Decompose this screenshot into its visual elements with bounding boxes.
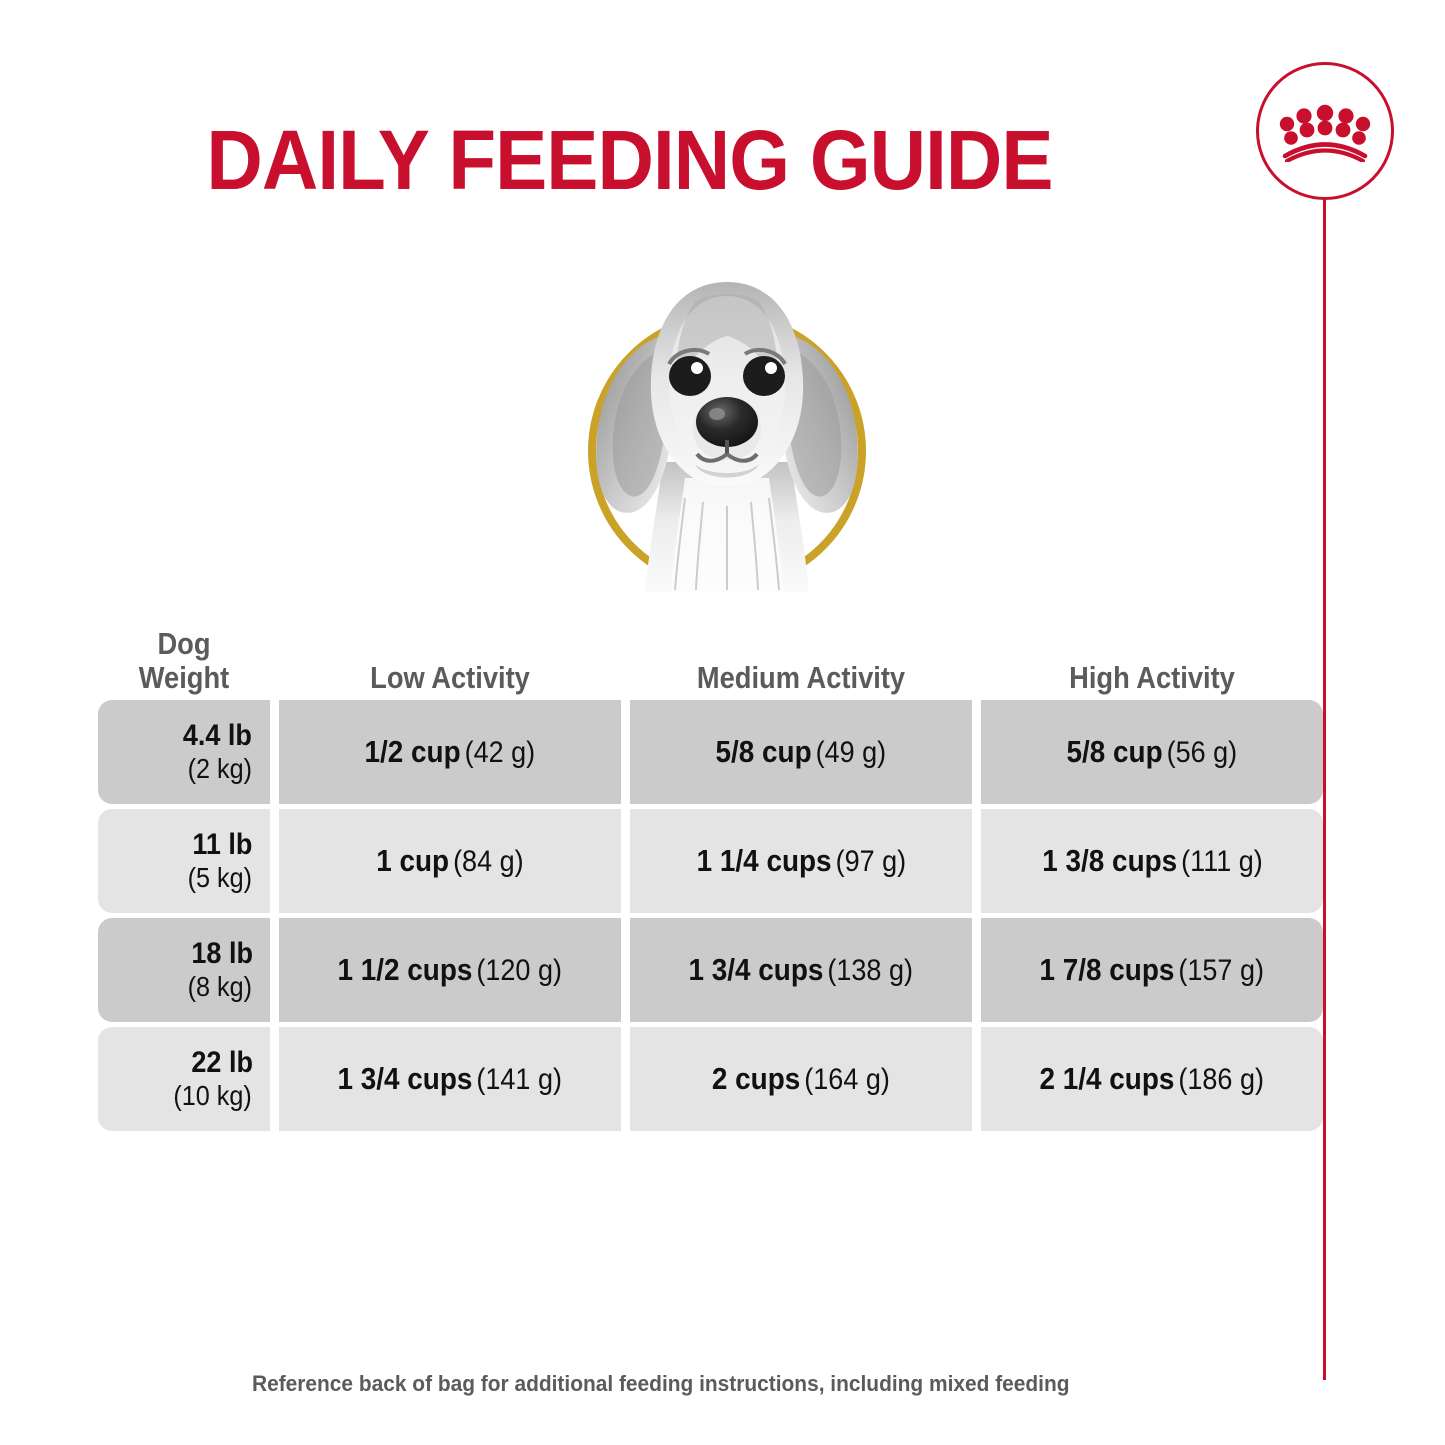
cups-value: 1 cup <box>376 843 449 878</box>
column-gap <box>621 1027 630 1131</box>
table-row: 11 lb (5 kg) 1 cup (84 g) 1 1/4 cups (97… <box>98 809 1296 913</box>
weight-kg: (10 kg) <box>173 1080 251 1112</box>
cell-low-activity: 1/2 cup (42 g) <box>279 700 621 804</box>
footer-note: Reference back of bag for additional fee… <box>36 1371 1409 1397</box>
cups-value: 1/2 cup <box>365 734 461 769</box>
cell-dog-weight: 4.4 lb (2 kg) <box>98 700 270 804</box>
cups-value: 2 cups <box>712 1061 800 1096</box>
column-header-medium-activity: Medium Activity <box>651 661 952 700</box>
cell-low-activity: 1 cup (84 g) <box>279 809 621 913</box>
cell-high-activity: 2 1/4 cups (186 g) <box>981 1027 1323 1131</box>
table-header-row: Dog Weight Low Activity Medium Activity … <box>98 588 1296 700</box>
feeding-table: Dog Weight Low Activity Medium Activity … <box>98 588 1296 1136</box>
grams-value: (164 g) <box>804 1063 890 1096</box>
daily-feeding-guide-page: DAILY FEEDING GUIDE <box>0 0 1445 1445</box>
weight-kg: (2 kg) <box>188 753 252 785</box>
grams-value: (138 g) <box>828 954 914 987</box>
cell-dog-weight: 11 lb (5 kg) <box>98 809 270 913</box>
cell-high-activity: 1 3/8 cups (111 g) <box>981 809 1323 913</box>
cups-value: 1 1/2 cups <box>338 952 473 987</box>
grams-value: (97 g) <box>835 845 906 878</box>
column-gap <box>270 918 279 1022</box>
grams-value: (111 g) <box>1181 845 1263 878</box>
cups-value: 1 7/8 cups <box>1040 952 1175 987</box>
column-gap <box>270 1027 279 1131</box>
cups-value: 1 3/4 cups <box>689 952 824 987</box>
column-gap <box>972 700 981 804</box>
cups-value: 1 1/4 cups <box>696 843 831 878</box>
grams-value: (186 g) <box>1179 1063 1265 1096</box>
cell-high-activity: 5/8 cup (56 g) <box>981 700 1323 804</box>
column-gap <box>270 700 279 804</box>
column-gap <box>972 809 981 913</box>
dachshund-dog-icon <box>545 240 909 604</box>
weight-lb: 4.4 lb <box>183 719 252 753</box>
column-header-low-activity: Low Activity <box>300 661 601 700</box>
grams-value: (157 g) <box>1179 954 1265 987</box>
column-gap <box>621 700 630 804</box>
grams-value: (141 g) <box>477 1063 563 1096</box>
column-header-high-activity: High Activity <box>1002 661 1303 700</box>
table-row: 4.4 lb (2 kg) 1/2 cup (42 g) 5/8 cup (49… <box>98 700 1296 804</box>
cups-value: 2 1/4 cups <box>1040 1061 1175 1096</box>
weight-lb: 11 lb <box>193 828 253 862</box>
weight-lb: 18 lb <box>191 937 253 971</box>
cell-dog-weight: 22 lb (10 kg) <box>98 1027 270 1131</box>
cell-dog-weight: 18 lb (8 kg) <box>98 918 270 1022</box>
cell-medium-activity: 1 3/4 cups (138 g) <box>630 918 972 1022</box>
column-gap <box>270 809 279 913</box>
logo-stem-line <box>1323 198 1326 1380</box>
cups-value: 1 3/4 cups <box>338 1061 473 1096</box>
cell-low-activity: 1 1/2 cups (120 g) <box>279 918 621 1022</box>
cell-low-activity: 1 3/4 cups (141 g) <box>279 1027 621 1131</box>
cups-value: 1 3/8 cups <box>1042 843 1177 878</box>
cell-high-activity: 1 7/8 cups (157 g) <box>981 918 1323 1022</box>
grams-value: (120 g) <box>477 954 563 987</box>
column-gap <box>621 918 630 1022</box>
column-gap <box>621 809 630 913</box>
dog-medallion <box>588 312 866 590</box>
cell-medium-activity: 5/8 cup (49 g) <box>630 700 972 804</box>
page-title: DAILY FEEDING GUIDE <box>51 118 1395 202</box>
cups-value: 5/8 cup <box>716 734 812 769</box>
weight-kg: (5 kg) <box>188 862 252 894</box>
grams-value: (42 g) <box>465 736 536 769</box>
grams-value: (84 g) <box>453 845 524 878</box>
table-row: 22 lb (10 kg) 1 3/4 cups (141 g) 2 cups … <box>98 1027 1296 1131</box>
weight-lb: 22 lb <box>191 1046 253 1080</box>
column-gap <box>972 918 981 1022</box>
cups-value: 5/8 cup <box>1067 734 1163 769</box>
cell-medium-activity: 2 cups (164 g) <box>630 1027 972 1131</box>
grams-value: (56 g) <box>1167 736 1238 769</box>
weight-kg: (8 kg) <box>188 971 252 1003</box>
column-header-dog-weight: Dog Weight <box>108 627 259 700</box>
column-gap <box>972 1027 981 1131</box>
table-row: 18 lb (8 kg) 1 1/2 cups (120 g) 1 3/4 cu… <box>98 918 1296 1022</box>
cell-medium-activity: 1 1/4 cups (97 g) <box>630 809 972 913</box>
grams-value: (49 g) <box>816 736 887 769</box>
